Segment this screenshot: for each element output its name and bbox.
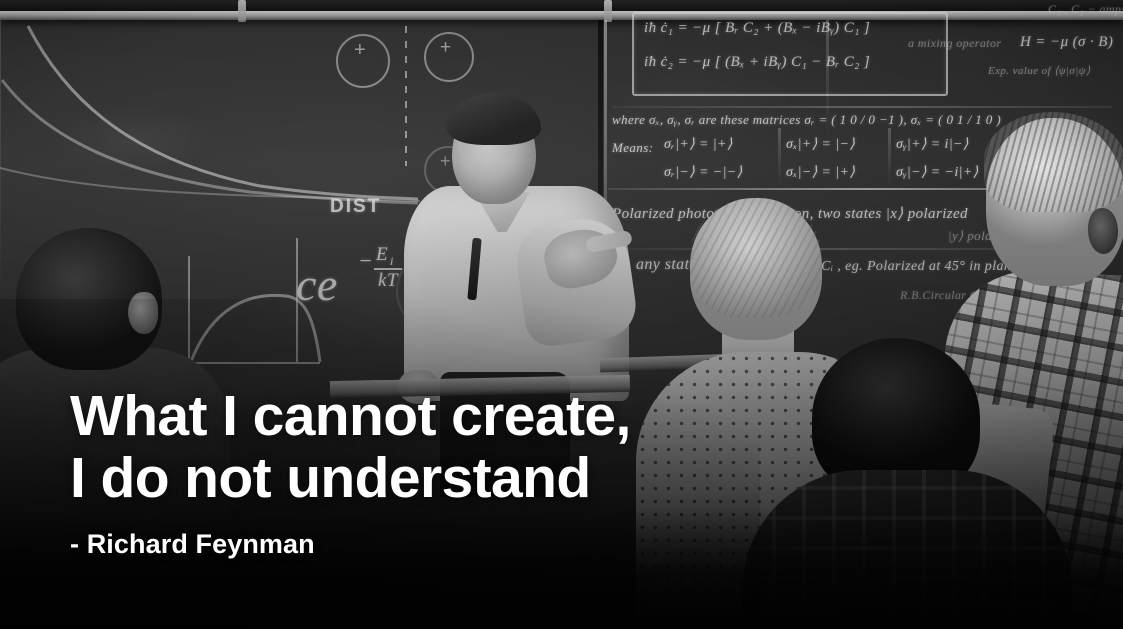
quote-line-2: I do not understand — [70, 447, 750, 509]
quote-attribution: - Richard Feynman — [70, 527, 750, 561]
quote-line-1: What I cannot create, — [70, 385, 750, 447]
quote-card: + + + + DIST ce − E i kT iħ ċ₁ = −μ [ Bᵣ — [0, 0, 1123, 629]
quote-block: What I cannot create, I do not understan… — [70, 385, 750, 561]
